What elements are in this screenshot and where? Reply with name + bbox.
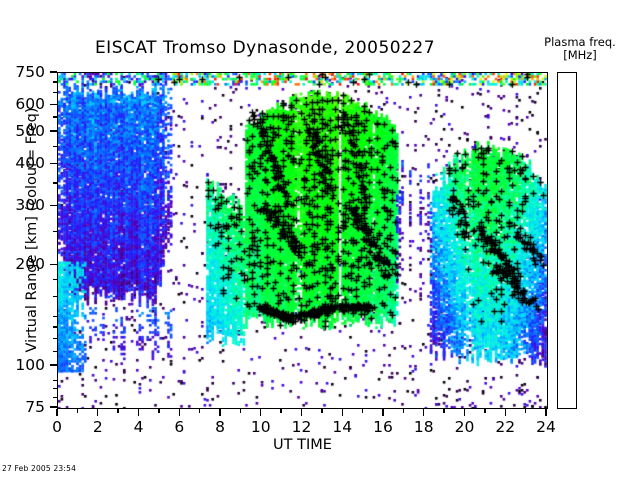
x-minor-tick [280,409,281,413]
x-minor-tick [158,409,159,413]
y-tick-500 [50,130,57,131]
x-tick-label-12: 12 [292,418,312,436]
x-minor-tick [484,409,485,413]
y-minor-tick [53,316,57,317]
y-tick-label-750: 750 [15,63,45,81]
x-tick-6 [179,409,180,416]
x-tick-2 [97,409,98,416]
x-tick-label-14: 14 [332,418,352,436]
y-tick-300 [50,205,57,206]
colorbar-ticks [557,72,640,409]
x-tick-label-16: 16 [373,418,393,436]
x-tick-label-22: 22 [495,418,515,436]
y-minor-tick [53,380,57,381]
y-minor-tick [53,231,57,232]
ionogram-heatmap-canvas [58,73,547,408]
y-minor-tick [53,296,57,297]
x-tick-14 [342,409,343,416]
x-tick-label-0: 0 [52,418,62,436]
x-tick-24 [545,409,546,416]
x-minor-tick [362,409,363,413]
x-tick-18 [423,409,424,416]
x-tick-12 [301,409,302,416]
y-minor-tick [53,182,57,183]
x-tick-4 [138,409,139,416]
y-minor-tick [53,146,57,147]
y-minor-tick [53,81,57,82]
y-minor-tick [53,92,57,93]
y-minor-tick [53,351,57,352]
y-tick-400 [50,163,57,164]
y-minor-tick [53,397,57,398]
y-minor-tick [53,116,57,117]
x-tick-label-2: 2 [93,418,103,436]
x-tick-label-10: 10 [251,418,271,436]
x-axis-title: UT TIME [57,437,548,453]
y-minor-tick [53,388,57,389]
x-minor-tick [240,409,241,413]
x-minor-tick [403,409,404,413]
y-tick-label-75: 75 [25,398,45,416]
y-tick-600 [50,104,57,105]
colorbar-title: Plasma freq. [MHz] [520,36,640,62]
x-tick-0 [56,409,57,416]
x-minor-tick [77,409,78,413]
render-timestamp: 27 Feb 2005 23:54 [2,464,76,473]
x-tick-label-4: 4 [134,418,144,436]
y-tick-750 [50,71,57,72]
x-tick-label-6: 6 [174,418,184,436]
x-tick-label-8: 8 [215,418,225,436]
x-tick-label-24: 24 [536,418,556,436]
x-minor-tick [443,409,444,413]
x-minor-tick [525,409,526,413]
x-minor-tick [321,409,322,413]
y-axis-title: Virtual Range [km] (colour= Freq) [24,80,40,380]
y-tick-200 [50,264,57,265]
y-minor-tick [53,338,57,339]
x-tick-10 [260,409,261,416]
page-title: EISCAT Tromso Dynasonde, 20050227 [0,38,530,58]
y-minor-tick [53,326,57,327]
x-tick-22 [505,409,506,416]
x-minor-tick [199,409,200,413]
colorbar-title-line2: [MHz] [520,49,640,62]
x-tick-label-18: 18 [414,418,434,436]
x-tick-16 [382,409,383,416]
x-minor-tick [117,409,118,413]
y-minor-tick [53,279,57,280]
x-axis: 024681012141618202224 [57,409,548,439]
x-tick-20 [464,409,465,416]
x-tick-8 [219,409,220,416]
y-tick-75 [50,406,57,407]
y-tick-100 [50,364,57,365]
x-tick-label-20: 20 [455,418,475,436]
ionogram-plot-area [57,72,548,409]
